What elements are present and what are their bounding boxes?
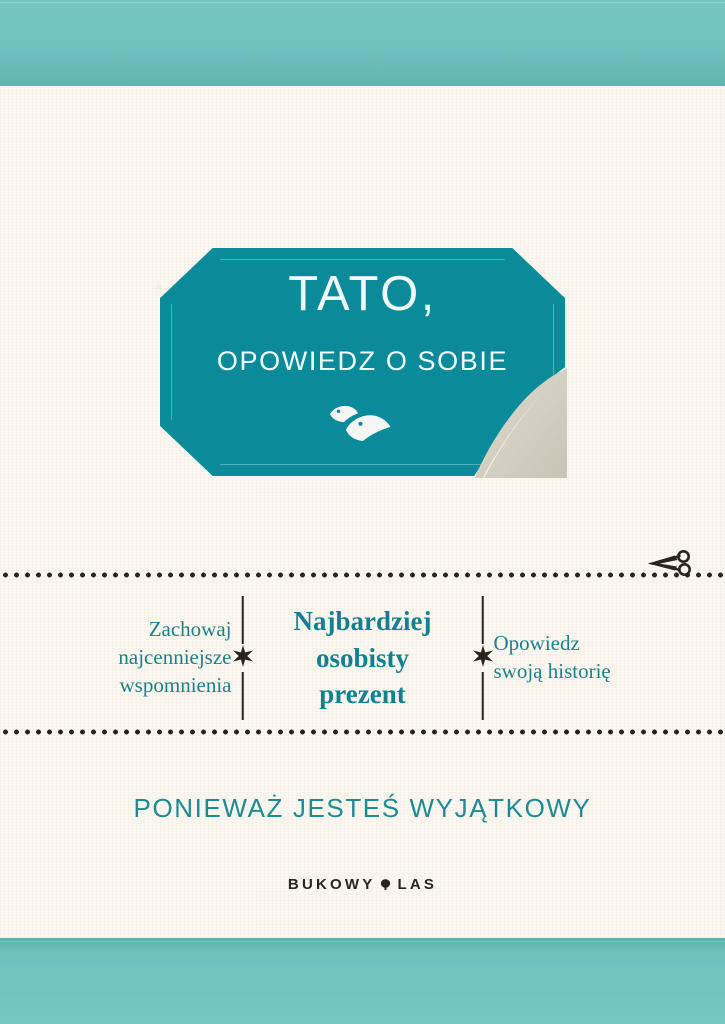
publisher-name-second: LAS bbox=[397, 876, 437, 893]
paper-texture bbox=[0, 0, 725, 1024]
divider-left-rule-top bbox=[241, 596, 244, 644]
tree-icon bbox=[379, 878, 392, 891]
feature-left-line-3: wspomnienia bbox=[82, 672, 232, 700]
feature-center-line-3: prezent bbox=[254, 676, 472, 712]
bottom-teal-band bbox=[0, 938, 725, 1024]
cut-line-top bbox=[0, 572, 725, 578]
star-icon bbox=[233, 645, 253, 672]
top-teal-band bbox=[0, 0, 725, 86]
feature-center-line-2: osobisty bbox=[254, 640, 472, 676]
feature-center: Najbardziej osobisty prezent bbox=[254, 603, 472, 712]
feature-center-line-1: Najbardziej bbox=[254, 603, 472, 639]
publisher-name-first: BUKOWY bbox=[288, 876, 376, 893]
feature-left: Zachowaj najcenniejsze wspomnienia bbox=[82, 616, 232, 699]
divider-right-rule-top bbox=[481, 596, 484, 644]
feature-band: Zachowaj najcenniejsze wspomnienia Najba… bbox=[0, 596, 725, 720]
book-subtitle: OPOWIEDZ O SOBIE bbox=[160, 348, 565, 375]
divider-left-rule-bottom bbox=[241, 672, 244, 720]
divider-right bbox=[472, 596, 494, 720]
feature-left-text: Zachowaj najcenniejsze wspomnienia bbox=[82, 616, 232, 699]
cut-line-bottom bbox=[0, 729, 725, 735]
book-title: TATO, bbox=[160, 270, 565, 319]
divider-left bbox=[232, 596, 254, 720]
feature-left-line-2: najcenniejsze bbox=[82, 644, 232, 672]
feature-left-line-1: Zachowaj bbox=[82, 616, 232, 644]
feature-right-line-1: Opowiedz bbox=[494, 630, 644, 658]
feature-right-text: Opowiedz swoją historię bbox=[494, 630, 644, 685]
tagline: PONIEWAŻ JESTEŚ WYJĄTKOWY bbox=[0, 793, 725, 824]
publisher-logo: BUKOWY LAS bbox=[0, 876, 725, 893]
feature-center-text: Najbardziej osobisty prezent bbox=[254, 603, 472, 712]
feature-right: Opowiedz swoją historię bbox=[494, 630, 644, 685]
two-birds-emblem bbox=[160, 398, 565, 444]
book-cover: TATO, OPOWIEDZ O SOBIE bbox=[0, 0, 725, 1024]
divider-right-rule-bottom bbox=[481, 672, 484, 720]
feature-right-line-2: swoją historię bbox=[494, 658, 644, 686]
scissors-icon bbox=[645, 550, 693, 581]
star-icon bbox=[473, 645, 493, 672]
title-badge: TATO, OPOWIEDZ O SOBIE bbox=[160, 248, 565, 476]
